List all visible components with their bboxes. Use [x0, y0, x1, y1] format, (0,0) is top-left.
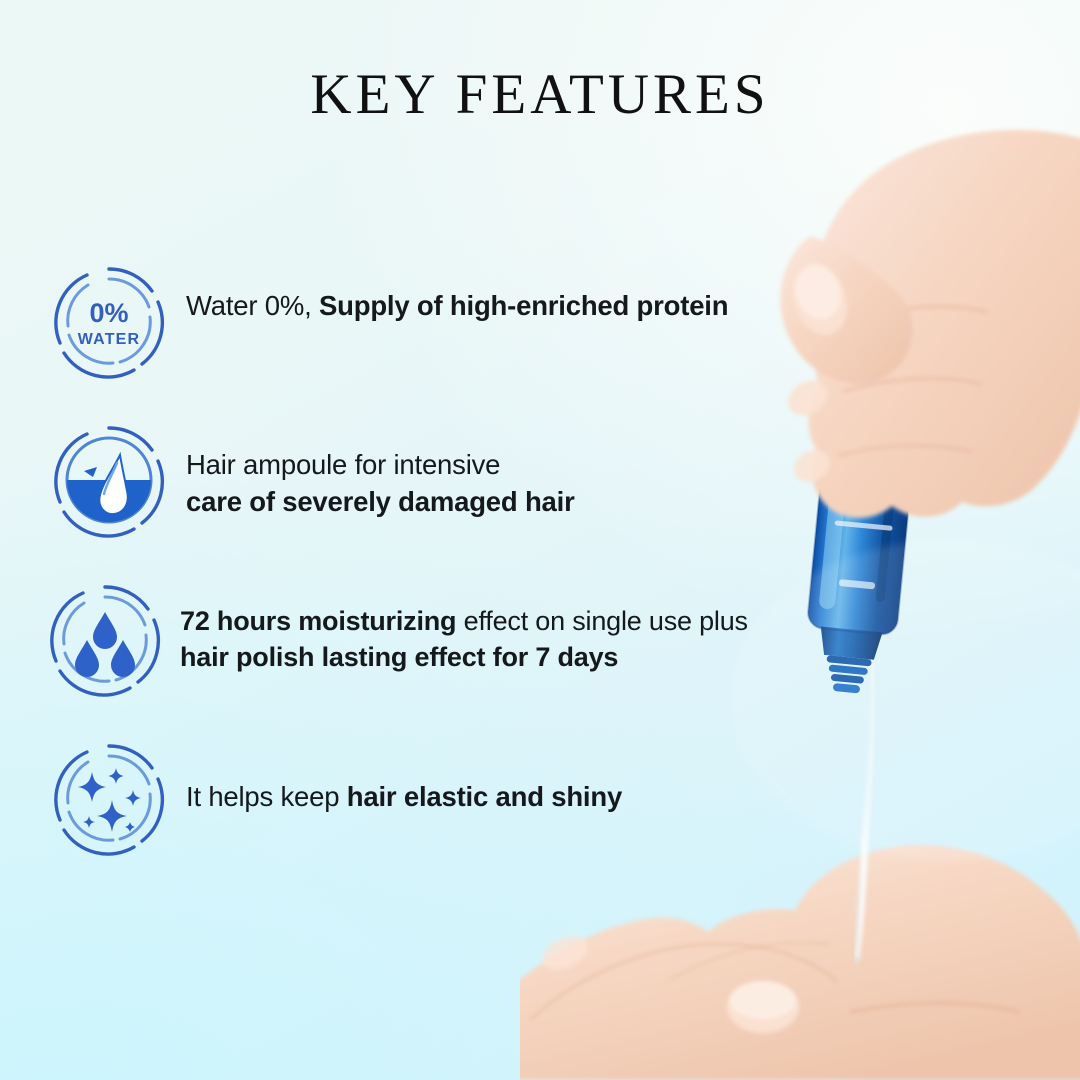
feature-item-water: 0% WATER Water 0%, Supply of high-enrich… [48, 260, 748, 382]
zero-percent-water-icon: 0% WATER [48, 260, 170, 382]
page-title: KEY FEATURES [0, 66, 1080, 123]
key-features-poster: KEY FEATURES [0, 0, 1080, 1080]
feature-text-plain: effect on single use plus [456, 606, 748, 636]
feature-text-bold-2: hair polish lasting effect for 7 days [180, 642, 618, 672]
icon-label-water: WATER [78, 331, 141, 348]
feature-text-bold: Supply of high-enriched protein [319, 290, 728, 321]
hair-follicle-icon [48, 419, 170, 541]
water-droplets-icon [44, 578, 166, 700]
feature-text-plain: It helps keep [186, 781, 347, 812]
feature-text-plain: Hair ampoule for intensive [186, 449, 500, 480]
holding-hand [780, 130, 1080, 518]
feature-text-shiny: It helps keep hair elastic and shiny [170, 737, 748, 816]
icon-label-zero-percent: 0% [89, 298, 128, 328]
feature-text-bold: care of severely damaged hair [186, 486, 575, 517]
feature-item-moisturizing: 72 hours moisturizing effect on single u… [44, 578, 748, 700]
sparkles-icon [48, 737, 170, 859]
feature-text-hair-ampoule: Hair ampoule for intensivecare of severe… [170, 419, 748, 520]
feature-text-bold: hair elastic and shiny [347, 781, 622, 812]
bottle-label [825, 356, 909, 591]
feature-item-hair-ampoule: Hair ampoule for intensivecare of severe… [48, 419, 748, 541]
feature-item-shiny: It helps keep hair elastic and shiny [48, 737, 748, 859]
feature-list: 0% WATER Water 0%, Supply of high-enrich… [48, 260, 748, 896]
feature-text-bold: 72 hours moisturizing [180, 606, 456, 636]
ampoule-bottle [801, 279, 930, 697]
feature-text-moisturizing: 72 hours moisturizing effect on single u… [166, 578, 748, 676]
bottle-nozzle-threads [824, 655, 872, 694]
feature-text-plain: Water 0%, [186, 290, 319, 321]
feature-text-water: Water 0%, Supply of high-enriched protei… [170, 260, 748, 325]
liquid-stream [856, 640, 873, 960]
